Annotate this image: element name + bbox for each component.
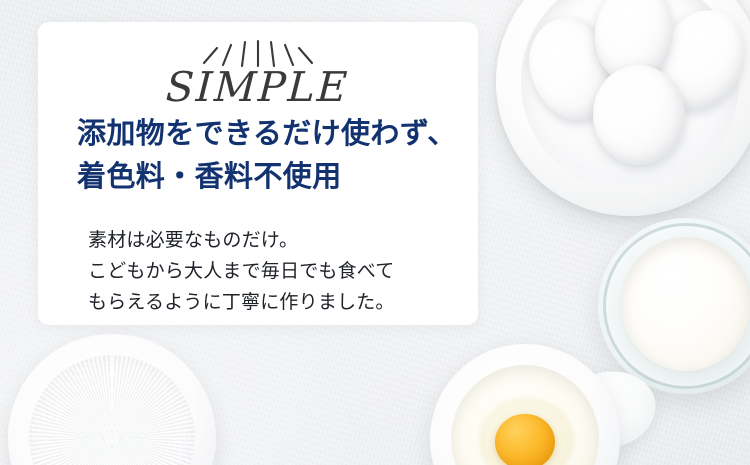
sugar-surface bbox=[29, 355, 195, 465]
egg-yolk bbox=[495, 414, 554, 465]
card-headline: 添加物をできるだけ使わず、 着色料・香料不使用 bbox=[77, 113, 457, 199]
milk-surface bbox=[621, 237, 750, 371]
egg-bowl-interior bbox=[521, 0, 738, 191]
info-card: SIMPLE 添加物をできるだけ使わず、 着色料・香料不使用 素材は必要なものだ… bbox=[38, 22, 478, 325]
card-body-text: 素材は必要なものだけ。 こどもから大人まで毎日でも食べて もらえるように丁寧に作… bbox=[88, 225, 468, 318]
promo-banner: SIMPLE 添加物をできるだけ使わず、 着色料・香料不使用 素材は必要なものだ… bbox=[0, 0, 750, 465]
simple-wordmark: SIMPLE bbox=[165, 67, 350, 108]
sugar-texture bbox=[29, 355, 195, 465]
cracked-egg-bowl-interior bbox=[451, 365, 599, 465]
simple-logo: SIMPLE bbox=[38, 36, 478, 108]
